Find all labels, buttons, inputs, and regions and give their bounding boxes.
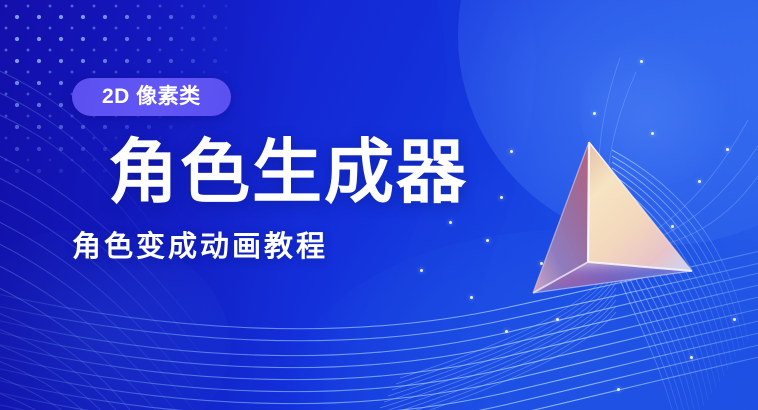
banner-title: 角色生成器 [108,137,492,207]
banner-subtitle: 角色变成动画教程 [72,233,492,262]
banner-content: 2D 像素类 角色生成器 角色变成动画教程 [72,78,492,262]
promo-banner: 2D 像素类 角色生成器 角色变成动画教程 [0,0,758,410]
category-badge[interactable]: 2D 像素类 [72,78,231,116]
